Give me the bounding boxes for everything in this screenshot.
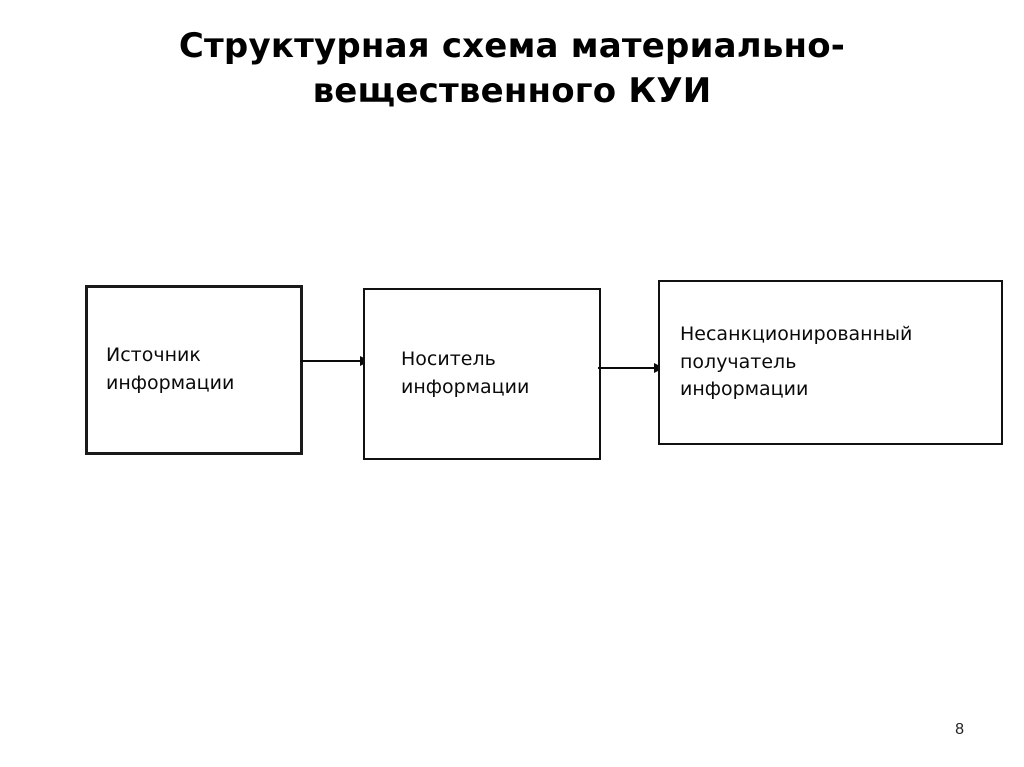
structural-diagram: Источник информации Носитель информации … bbox=[0, 0, 1024, 767]
arrow-source-to-carrier bbox=[300, 355, 370, 367]
node-receiver-line-1: Несанкционированный bbox=[680, 321, 912, 349]
node-carrier-line-1: Носитель bbox=[401, 346, 496, 374]
page-number: 8 bbox=[955, 721, 964, 739]
arrow-carrier-to-receiver bbox=[598, 362, 664, 374]
node-carrier-line-2: информации bbox=[401, 374, 529, 402]
node-source-line-1: Источник bbox=[106, 342, 201, 370]
node-receiver-line-2: получатель bbox=[680, 349, 796, 377]
node-source-line-2: информации bbox=[106, 370, 234, 398]
diagram-node-carrier: Носитель информации bbox=[363, 288, 601, 460]
node-receiver-line-3: информации bbox=[680, 376, 808, 404]
diagram-node-source: Источник информации bbox=[85, 285, 303, 455]
diagram-node-receiver: Несанкционированный получатель информаци… bbox=[658, 280, 1003, 445]
